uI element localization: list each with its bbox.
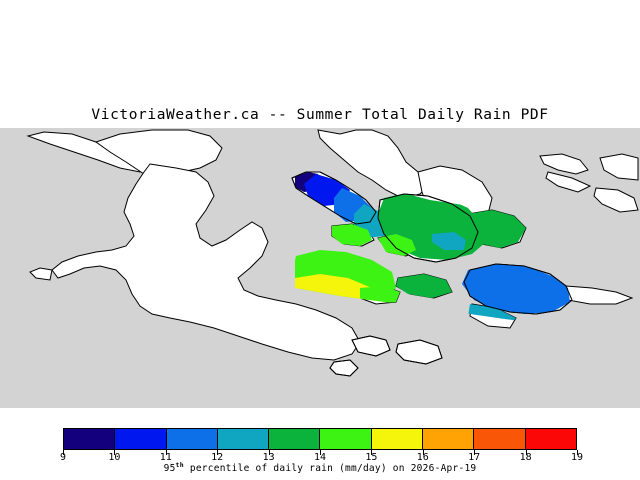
colorbar-band-14-15 xyxy=(320,429,371,449)
caption-prefix: 95 xyxy=(164,463,176,474)
colorbar-band-15-16 xyxy=(372,429,423,449)
colorbar-bands xyxy=(63,428,577,450)
colorbar-band-18-19 xyxy=(526,429,576,449)
colorbar xyxy=(63,428,577,450)
map-plot-area xyxy=(0,128,640,408)
map-svg xyxy=(0,128,640,408)
colorbar-band-11-12 xyxy=(167,429,218,449)
colorbar-band-17-18 xyxy=(474,429,525,449)
colorbar-band-10-11 xyxy=(115,429,166,449)
colorbar-band-12-13 xyxy=(218,429,269,449)
colorbar-band-16-17 xyxy=(423,429,474,449)
caption-suffix: percentile of daily rain (mm/day) on 202… xyxy=(184,463,477,474)
page-title: VictoriaWeather.ca -- Summer Total Daily… xyxy=(0,107,640,123)
colorbar-band-9-10 xyxy=(64,429,115,449)
colorbar-caption: 95th percentile of daily rain (mm/day) o… xyxy=(0,461,640,474)
caption-ordinal: th xyxy=(176,461,184,469)
colorbar-band-13-14 xyxy=(269,429,320,449)
